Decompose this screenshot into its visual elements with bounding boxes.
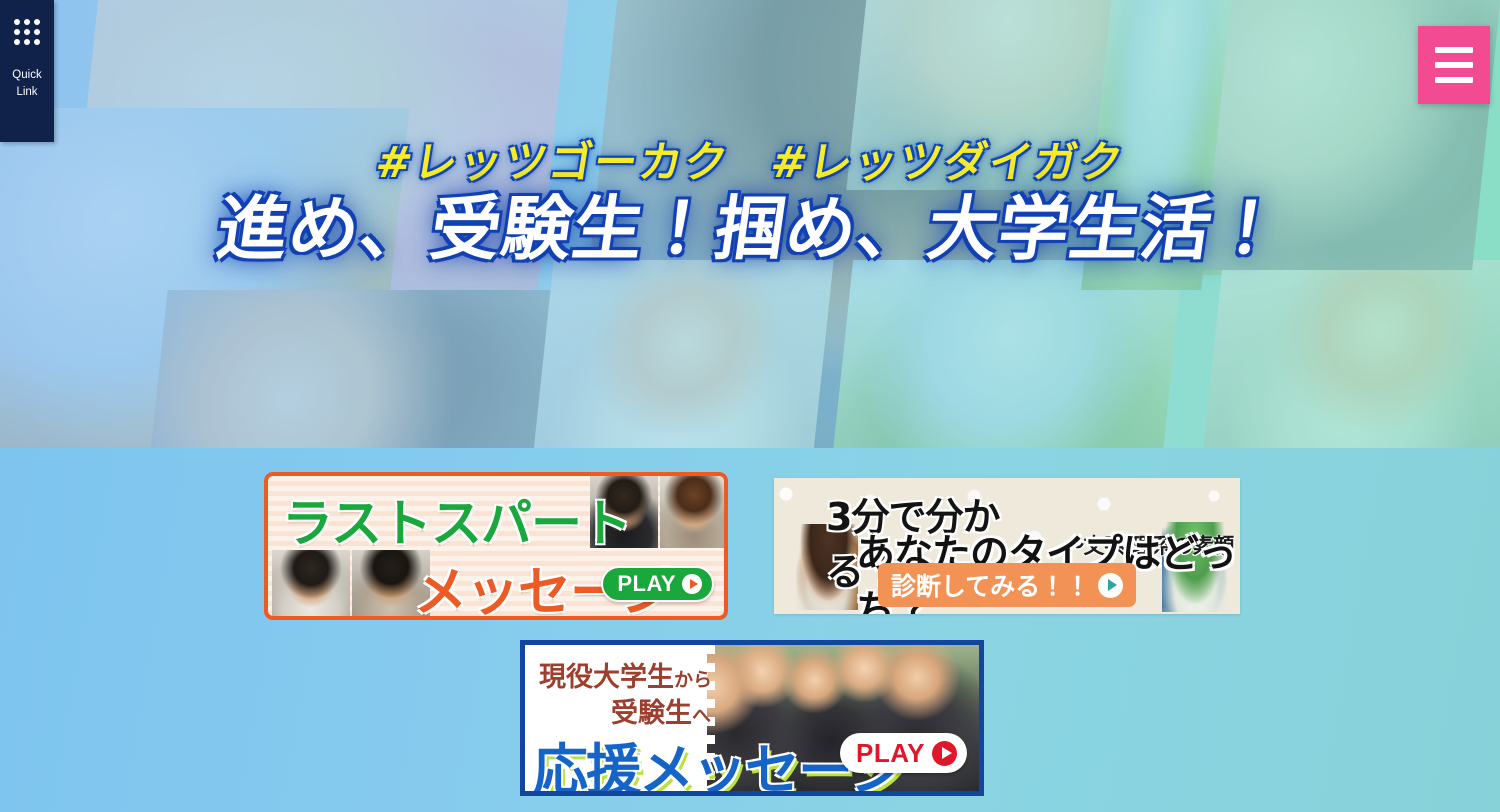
banner-headline-line1-main: 現役大学生 (539, 662, 674, 693)
banner-headline-line1: ラストスパート (282, 482, 631, 556)
banner-last-spurt-message[interactable]: ラストスパート メッセージ PLAY (264, 472, 728, 620)
hamburger-bar (1435, 77, 1473, 83)
arrow-right-icon (1098, 573, 1123, 598)
play-button-label: PLAY (617, 571, 676, 597)
hamburger-bar (1435, 62, 1473, 68)
grid-dots-icon (14, 19, 40, 45)
hamburger-bar (1435, 47, 1473, 53)
diagnosis-button[interactable]: 診断してみる！！ (878, 563, 1136, 607)
play-button[interactable]: PLAY (840, 733, 967, 773)
play-icon (932, 741, 957, 766)
banner-headline-line1: 現役大学生から (539, 655, 712, 694)
banner-type-diagnosis[interactable]: 3分で分かる！ ～文系・理系の素顔～ あなたのタイプはどっち？ 診断してみる！！ (774, 478, 1240, 614)
banner-cheer-message[interactable]: 現役大学生から 受験生へ 応援メッセージ PLAY (520, 640, 984, 796)
play-icon (682, 574, 702, 594)
hamburger-icon[interactable] (1418, 26, 1490, 104)
play-button-label: PLAY (856, 738, 925, 769)
banner-thumbnail (272, 550, 350, 620)
banner-thumbnail (660, 476, 728, 548)
hero-light-overlay (0, 0, 1500, 448)
quick-link-label: Quick Link (12, 67, 41, 101)
banner-headline-line1-suffix: から (674, 669, 712, 691)
quick-link-label-line1: Quick (12, 67, 41, 84)
banner-headline-line2-suffix: へ (692, 705, 711, 727)
hero-banner: #レッツゴーカク #レッツダイガク 進め、受験生！掴め、大学生活！ (0, 0, 1500, 448)
banner-section: ラストスパート メッセージ PLAY 3分で分かる！ ～文系・理系の素顔～ あな… (0, 448, 1500, 812)
diagnosis-button-label: 診断してみる！！ (891, 567, 1090, 603)
play-button[interactable]: PLAY (601, 566, 714, 602)
quick-link-label-line2: Link (12, 84, 41, 101)
quick-link-button[interactable]: Quick Link (0, 0, 54, 142)
